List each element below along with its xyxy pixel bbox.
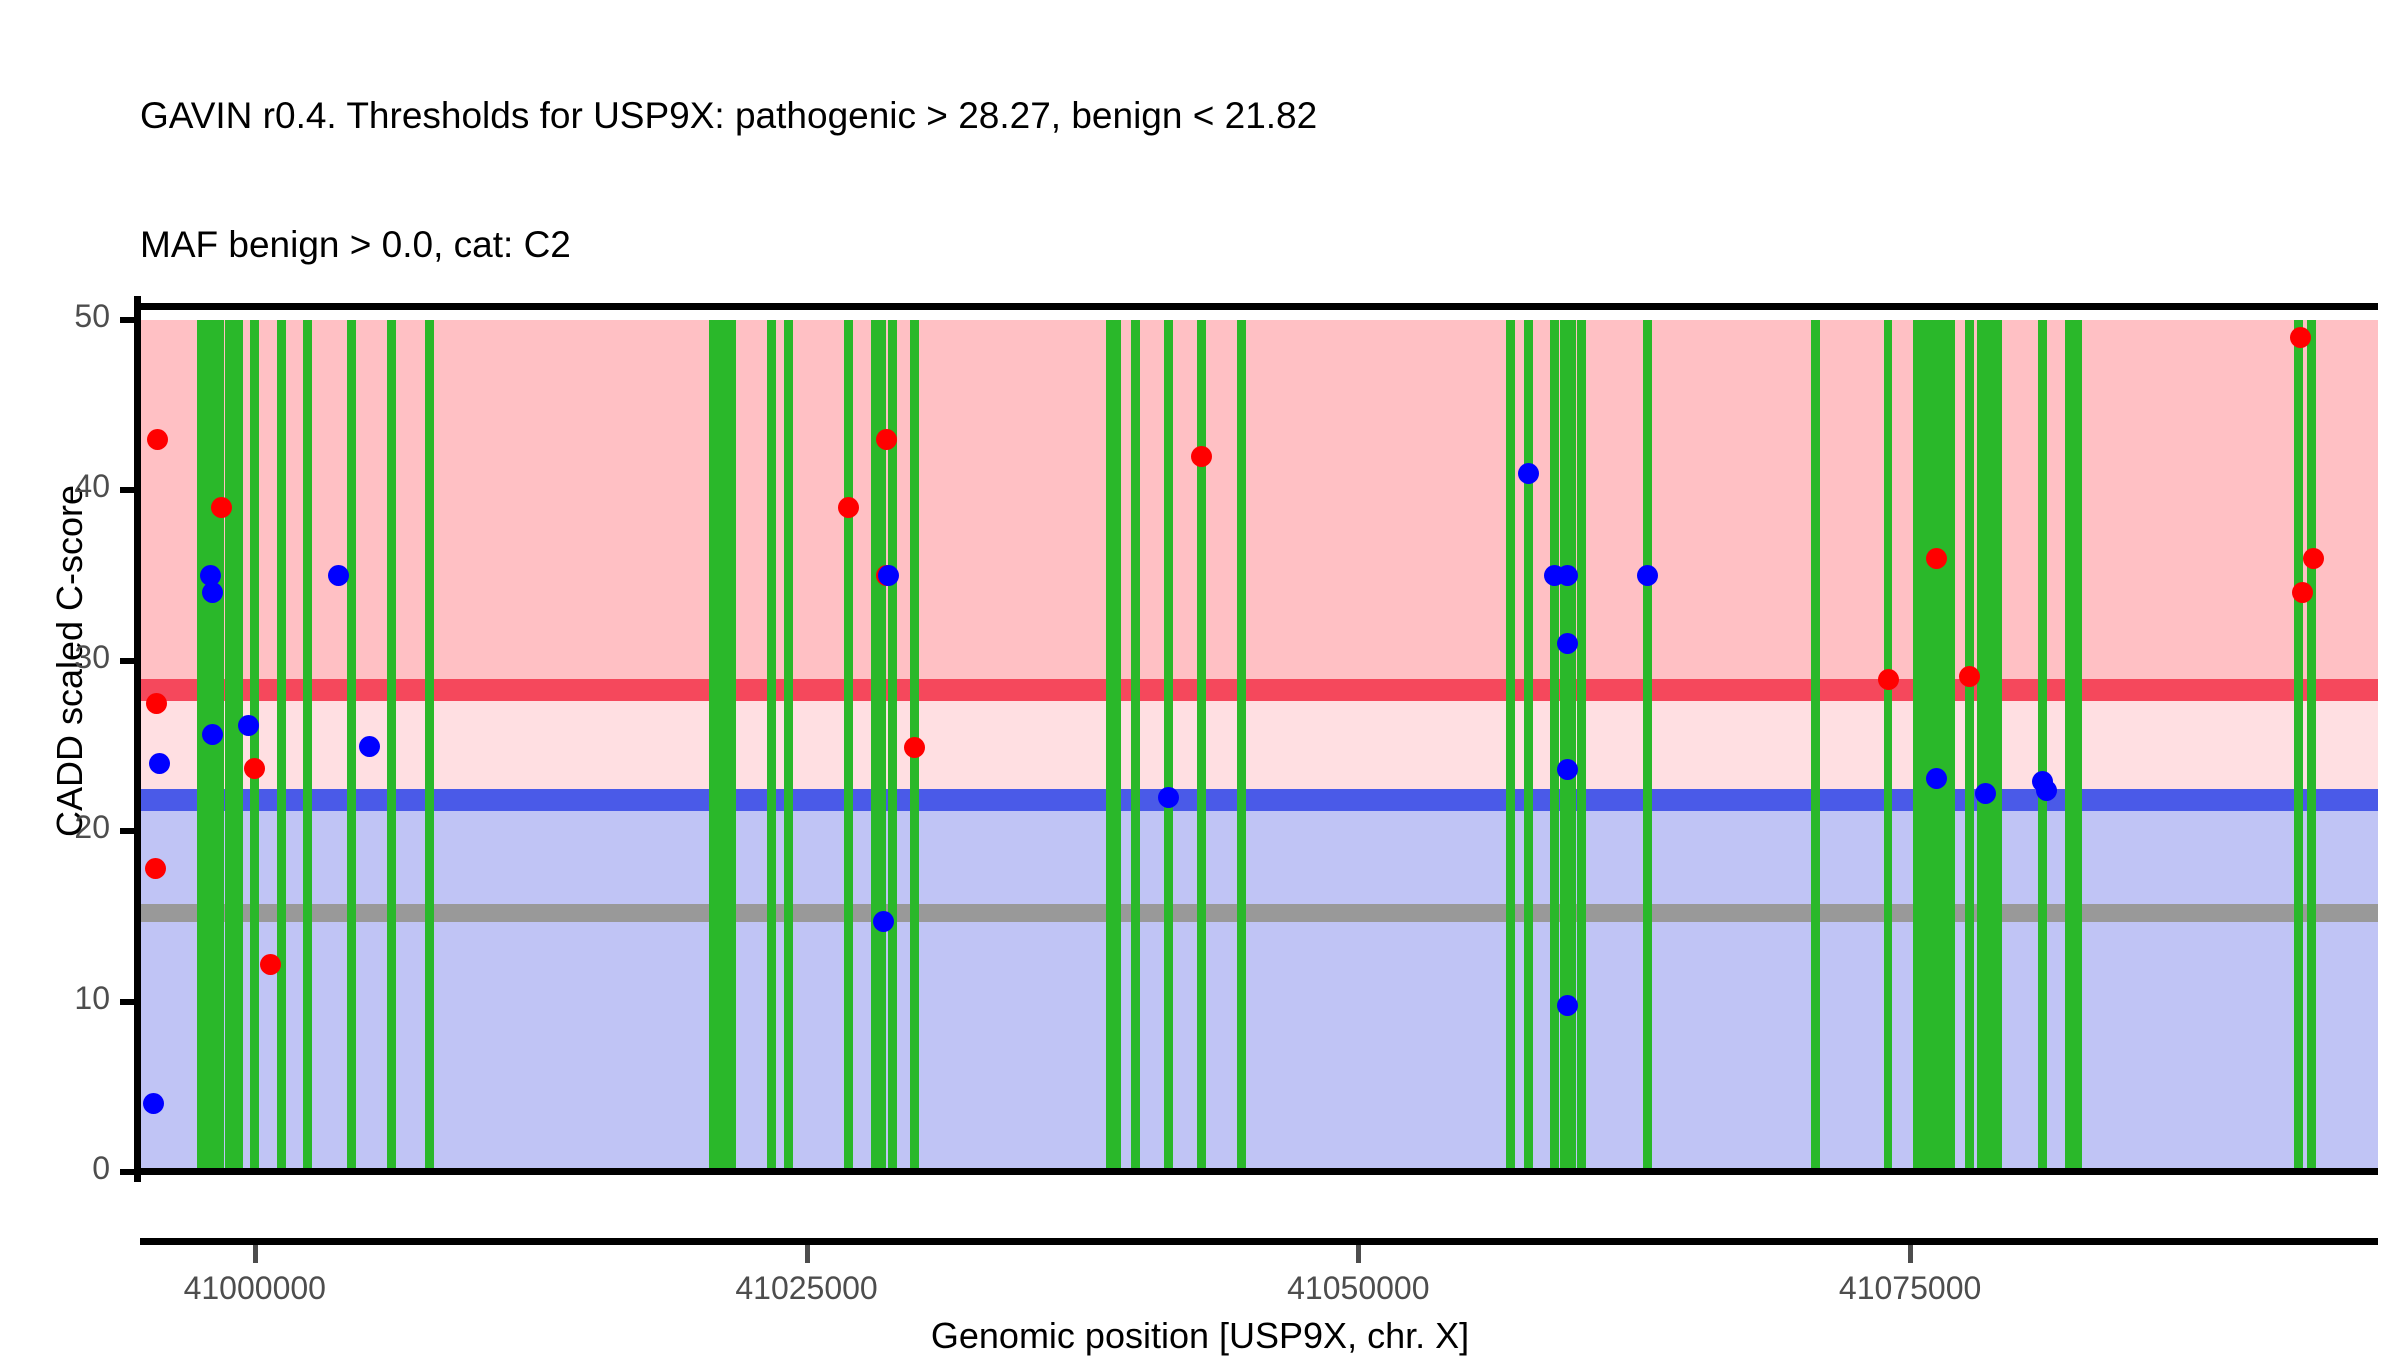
exon-marker bbox=[1884, 320, 1893, 1172]
exon-marker bbox=[2038, 320, 2047, 1172]
pathogenic-variant-point[interactable] bbox=[147, 429, 168, 450]
exon-marker bbox=[1550, 320, 1559, 1172]
exon-marker bbox=[2294, 320, 2303, 1172]
y-axis-tick bbox=[120, 1169, 134, 1175]
exon-marker bbox=[1560, 320, 1575, 1172]
pathogenic-variant-point[interactable] bbox=[211, 497, 232, 518]
axis-y-line bbox=[134, 296, 141, 1182]
exon-marker bbox=[1577, 320, 1586, 1172]
exon-marker bbox=[844, 320, 853, 1172]
y-axis-tick-label: 10 bbox=[0, 980, 110, 1017]
pathogenic-variant-point[interactable] bbox=[2290, 327, 2311, 348]
pathogenic-variant-point[interactable] bbox=[146, 693, 167, 714]
pathogenic-variant-point[interactable] bbox=[876, 429, 897, 450]
pathogenic-variant-point[interactable] bbox=[1959, 666, 1980, 687]
exon-marker bbox=[1164, 320, 1173, 1172]
exon-marker bbox=[234, 320, 243, 1172]
exon-marker bbox=[709, 320, 735, 1172]
exon-marker bbox=[277, 320, 286, 1172]
exon-marker bbox=[250, 320, 259, 1172]
exon-marker bbox=[1106, 320, 1121, 1172]
y-axis-tick bbox=[120, 317, 134, 323]
exon-marker bbox=[1131, 320, 1140, 1172]
exon-marker bbox=[225, 320, 234, 1172]
y-axis-tick bbox=[120, 658, 134, 664]
y-axis-tick bbox=[120, 828, 134, 834]
axis-top-rule bbox=[140, 303, 2378, 310]
pathogenic-variant-point[interactable] bbox=[260, 954, 281, 975]
exon-marker bbox=[197, 320, 223, 1172]
exon-marker bbox=[1965, 320, 1974, 1172]
exon-marker bbox=[303, 320, 312, 1172]
x-axis-tick bbox=[253, 1245, 258, 1263]
exon-marker bbox=[1913, 320, 1955, 1172]
y-axis-tick-label: 30 bbox=[0, 639, 110, 676]
plot-area bbox=[140, 320, 2378, 1172]
exon-marker bbox=[1811, 320, 1820, 1172]
benign-variant-point[interactable] bbox=[1158, 787, 1179, 808]
pathogenic-variant-point[interactable] bbox=[244, 758, 265, 779]
y-axis-tick-label: 0 bbox=[0, 1150, 110, 1187]
y-axis-tick-label: 40 bbox=[0, 468, 110, 505]
title-line-2: MAF benign > 0.0, cat: C2 bbox=[140, 223, 2340, 266]
benign-variant-point[interactable] bbox=[238, 715, 259, 736]
exon-marker bbox=[784, 320, 793, 1172]
benign-variant-point[interactable] bbox=[149, 753, 170, 774]
y-axis-tick-label: 50 bbox=[0, 298, 110, 335]
x-axis-title: Genomic position [USP9X, chr. X] bbox=[0, 1315, 2400, 1357]
exon-marker bbox=[425, 320, 434, 1172]
exon-marker bbox=[1993, 320, 2002, 1172]
x-axis-tick bbox=[1908, 1245, 1913, 1263]
benign-variant-point[interactable] bbox=[1518, 463, 1539, 484]
benign-variant-point[interactable] bbox=[202, 724, 223, 745]
benign-variant-point[interactable] bbox=[359, 736, 380, 757]
exon-marker bbox=[1506, 320, 1515, 1172]
exon-marker bbox=[767, 320, 776, 1172]
exon-marker bbox=[387, 320, 396, 1172]
exon-marker bbox=[1977, 320, 1992, 1172]
x-axis-tick-label: 41050000 bbox=[1208, 1270, 1508, 1307]
pathogenic-variant-point[interactable] bbox=[145, 858, 166, 879]
exon-marker bbox=[2065, 320, 2074, 1172]
pathogenic-variant-point[interactable] bbox=[1926, 548, 1947, 569]
exon-marker bbox=[1237, 320, 1246, 1172]
pathogenic-variant-point[interactable] bbox=[1191, 446, 1212, 467]
title-line-1: GAVIN r0.4. Thresholds for USP9X: pathog… bbox=[140, 94, 2340, 137]
benign-variant-point[interactable] bbox=[1557, 995, 1578, 1016]
pathogenic-variant-point[interactable] bbox=[1878, 669, 1899, 690]
y-axis-tick bbox=[120, 487, 134, 493]
exon-marker bbox=[2307, 320, 2316, 1172]
benign-variant-point[interactable] bbox=[878, 565, 899, 586]
x-axis-tick-label: 41000000 bbox=[105, 1270, 405, 1307]
exon-marker bbox=[1643, 320, 1652, 1172]
y-axis-tick bbox=[120, 999, 134, 1005]
exon-marker bbox=[347, 320, 356, 1172]
x-axis-tick bbox=[1356, 1245, 1361, 1263]
benign-variant-point[interactable] bbox=[143, 1093, 164, 1114]
x-axis-tick-label: 41075000 bbox=[1760, 1270, 2060, 1307]
x-axis-tick-label: 41025000 bbox=[657, 1270, 957, 1307]
y-axis-tick-label: 20 bbox=[0, 809, 110, 846]
x-axis-tick bbox=[805, 1245, 810, 1263]
exon-marker bbox=[1524, 320, 1533, 1172]
benign-variant-point[interactable] bbox=[1975, 783, 1996, 804]
benign-variant-point[interactable] bbox=[1637, 565, 1658, 586]
pathogenic-variant-point[interactable] bbox=[838, 497, 859, 518]
axis-x-line bbox=[140, 1238, 2378, 1245]
exon-marker bbox=[2073, 320, 2082, 1172]
chart-canvas: GAVIN r0.4. Thresholds for USP9X: pathog… bbox=[0, 0, 2400, 1350]
axis-zero-rule bbox=[140, 1168, 2378, 1175]
benign-variant-point[interactable] bbox=[1926, 768, 1947, 789]
